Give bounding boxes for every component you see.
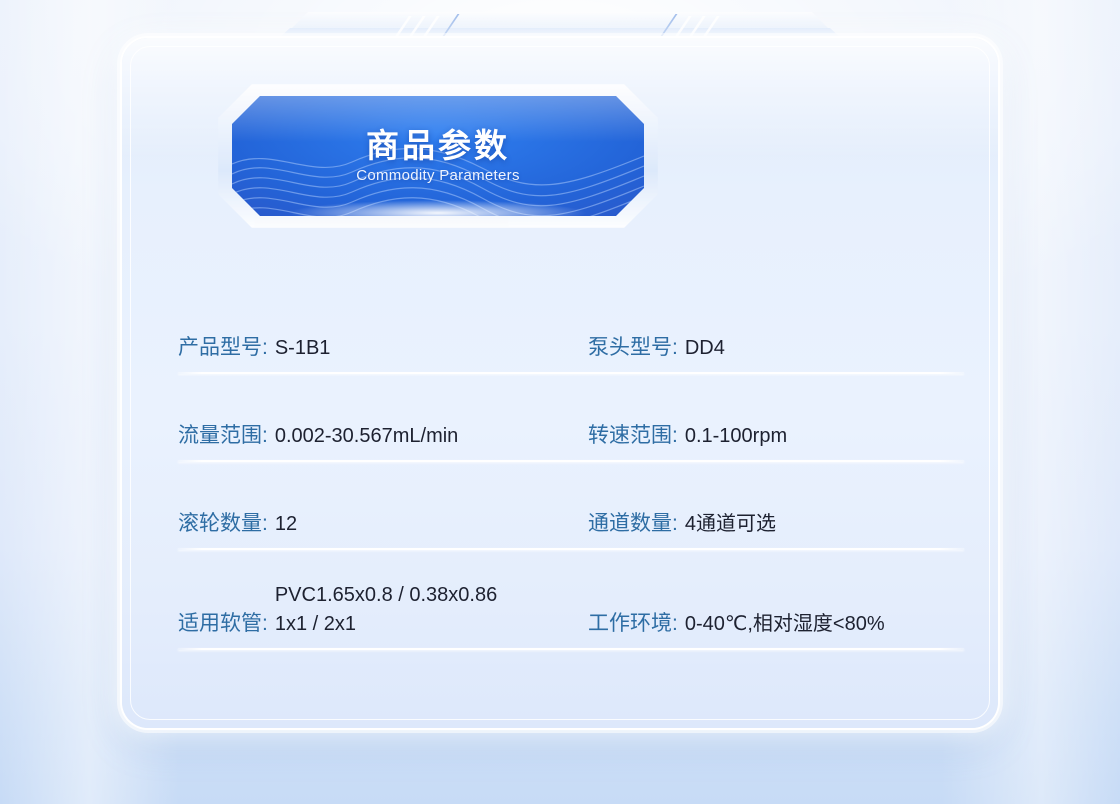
table-row: 滚轮数量: 12 通道数量: 4通道可选 (178, 462, 964, 548)
spec-cell: 流量范围: 0.002-30.567mL/min (178, 422, 588, 450)
spec-table: 产品型号: S-1B1 泵头型号: DD4 流量范围: 0.002-30.567… (178, 300, 964, 650)
spec-value: 0-40℃,相对湿度<80% (685, 611, 885, 638)
section-banner: 商品参数 Commodity Parameters (232, 96, 644, 216)
spec-value: DD4 (685, 335, 725, 362)
row-divider (178, 648, 964, 650)
spec-label: 泵头型号: (588, 334, 678, 362)
spec-value: 0.1-100rpm (685, 423, 787, 450)
banner-title: 商品参数 (366, 128, 510, 164)
banner-subtitle: Commodity Parameters (356, 167, 520, 184)
spec-label: 适用软管: (178, 610, 268, 638)
spec-cell: 泵头型号: DD4 (588, 334, 964, 362)
spec-value-line1: PVC1.65x0.8 / 0.38x0.86 (275, 584, 497, 606)
spec-cell: 工作环境: 0-40℃,相对湿度<80% (588, 610, 964, 638)
spec-value: 0.002-30.567mL/min (275, 423, 458, 450)
spec-value-line2: 1x1 / 2x1 (275, 613, 356, 635)
product-spec-page: 商品参数 Commodity Parameters 产品型号: S-1B1 泵头… (0, 0, 1120, 804)
spec-value: PVC1.65x0.8 / 0.38x0.86 1x1 / 2x1 (275, 581, 497, 638)
table-row: 产品型号: S-1B1 泵头型号: DD4 (178, 300, 964, 372)
spec-cell: 适用软管: PVC1.65x0.8 / 0.38x0.86 1x1 / 2x1 (178, 581, 588, 638)
spec-cell: 转速范围: 0.1-100rpm (588, 422, 964, 450)
table-row: 流量范围: 0.002-30.567mL/min 转速范围: 0.1-100rp… (178, 374, 964, 460)
spec-value: 4通道可选 (685, 511, 776, 538)
spec-cell: 产品型号: S-1B1 (178, 334, 588, 362)
banner-plate: 商品参数 Commodity Parameters (232, 96, 644, 216)
deco-bar-upper (290, 12, 830, 30)
spec-label: 工作环境: (588, 610, 678, 638)
spec-value: 12 (275, 511, 297, 538)
spec-label: 产品型号: (178, 334, 268, 362)
spec-label: 滚轮数量: (178, 510, 268, 538)
table-row: 适用软管: PVC1.65x0.8 / 0.38x0.86 1x1 / 2x1 … (178, 550, 964, 648)
spec-value: S-1B1 (275, 335, 331, 362)
spec-cell: 通道数量: 4通道可选 (588, 510, 964, 538)
spec-label: 转速范围: (588, 422, 678, 450)
spec-label: 流量范围: (178, 422, 268, 450)
banner-bottom-glow (288, 200, 588, 216)
spec-label: 通道数量: (588, 510, 678, 538)
spec-cell: 滚轮数量: 12 (178, 510, 588, 538)
